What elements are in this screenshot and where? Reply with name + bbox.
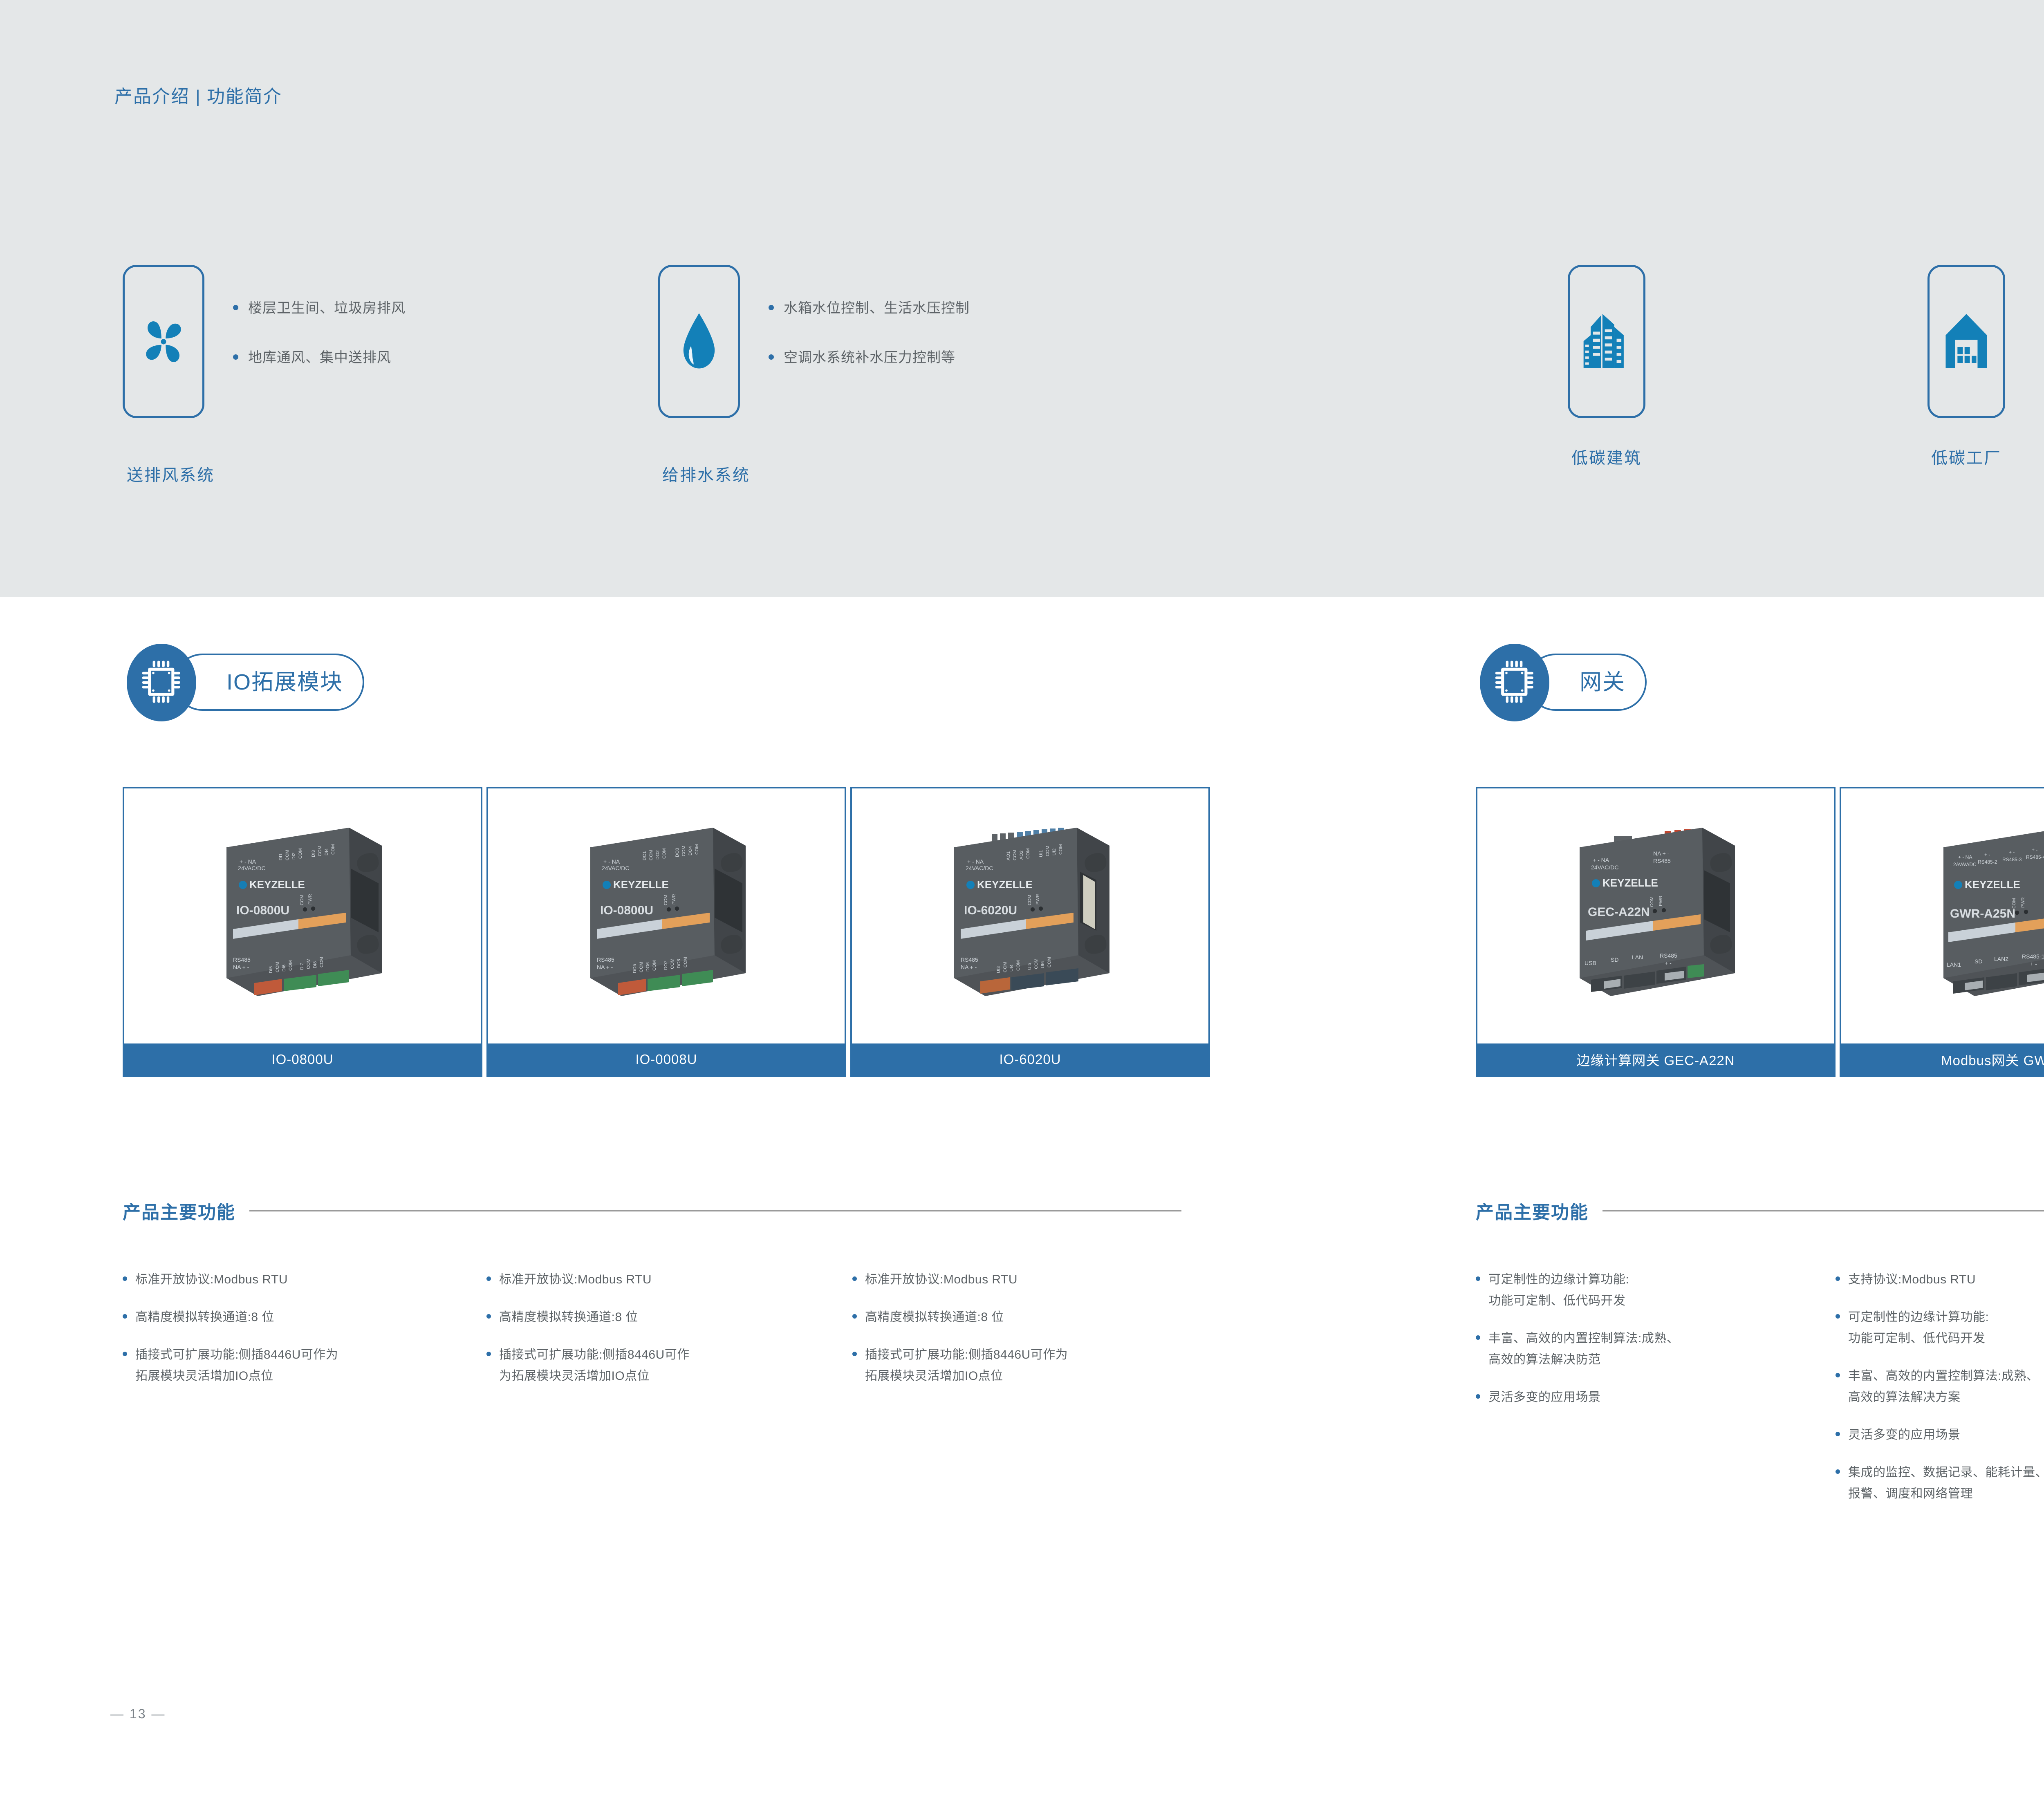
device-illustration: IO-0800U + - NA 24VAC/DC DI1 COM DI2 COM… — [176, 810, 429, 1022]
feature-item: 插接式可扩展功能:侧插8446U可作为 拓展模块灵活增加IO点位 — [852, 1344, 1196, 1387]
device-illustration: GWR-A25N + - NA + - + - + - + - 2AVAV/DC… — [1893, 810, 2044, 1022]
bullet-item: 楼层卫生间、垃圾房排风 — [233, 297, 406, 317]
feature-text: 高精度模拟转换通道:8 位 — [499, 1307, 638, 1328]
product-caption: IO-0008U — [488, 1043, 845, 1075]
feature-item: 丰富、高效的内置控制算法:成熟、 高效的算法解决方案 — [1836, 1366, 2044, 1408]
feature-item: 高精度模拟转换通道:8 位 — [852, 1307, 1196, 1328]
bullet-dot — [1836, 1276, 1840, 1281]
svg-text:COM: COM — [300, 895, 305, 905]
section-header-io-modules: IO拓展模块 — [127, 644, 437, 721]
bullet-dot — [233, 354, 238, 360]
water-drop-icon — [675, 311, 724, 372]
svg-text:LAN2: LAN2 — [1994, 956, 2008, 962]
feature-item: 标准开放协议:Modbus RTU — [852, 1269, 1196, 1290]
page-header-left: 产品介绍 | 功能简介 — [114, 82, 282, 108]
svg-text:+ -: + - — [1665, 960, 1672, 966]
product-card[interactable]: GWR-A25N + - NA + - + - + - + - 2AVAV/DC… — [1840, 787, 2044, 1077]
svg-text:PWR: PWR — [672, 894, 677, 905]
scenario-low-carbon-factory: 低碳工厂 — [1927, 265, 2005, 418]
svg-text:COM: COM — [662, 848, 667, 859]
svg-text:COM: COM — [1047, 957, 1052, 967]
feature-item: 丰富、高效的内置控制算法:成熟、 高效的算法解决防范 — [1476, 1328, 1811, 1370]
feature-text: 高精度模拟转换通道:8 位 — [865, 1307, 1004, 1328]
scenario-water: 水箱水位控制、生活水压控制 空调水系统补水压力控制等 — [658, 265, 970, 418]
scenario-low-carbon-factory-label: 低碳工厂 — [1927, 445, 2005, 468]
svg-text:24VAC/DC: 24VAC/DC — [602, 865, 629, 871]
svg-text:IO-0800U: IO-0800U — [600, 904, 653, 917]
feature-text: 标准开放协议:Modbus RTU — [135, 1269, 288, 1290]
bullet-dot — [233, 305, 238, 310]
svg-text:COM: COM — [695, 844, 699, 855]
feature-item: 灵活多变的应用场景 — [1836, 1424, 2044, 1446]
svg-text:RS485: RS485 — [1660, 952, 1677, 959]
svg-text:LAN1: LAN1 — [1947, 961, 1961, 968]
feature-item: 灵活多变的应用场景 — [1476, 1387, 1811, 1408]
svg-text:COM: COM — [285, 850, 290, 860]
svg-text:DO8: DO8 — [677, 959, 681, 968]
office-buildings-icon — [1580, 309, 1633, 374]
water-drop-icon-frame — [658, 265, 740, 418]
feature-text: 丰富、高效的内置控制算法:成熟、 高效的算法解决方案 — [1848, 1366, 2039, 1408]
svg-text:RS485-4: RS485-4 — [2026, 854, 2044, 860]
features-heading-right: 产品主要功能 — [1476, 1198, 2044, 1224]
svg-text:UI6: UI6 — [1040, 961, 1045, 968]
svg-text:LAN: LAN — [1632, 954, 1643, 961]
feature-text: 可定制性的边缘计算功能: 功能可定制、低代码开发 — [1848, 1307, 1989, 1349]
product-photo-io-0008u: IO-0800U + - NA 24VAC/DC DO1 COM DO2 COM… — [488, 788, 845, 1043]
office-buildings-icon-frame — [1568, 265, 1645, 418]
svg-text:+ - NA: + - NA — [240, 858, 256, 865]
svg-text:UI3: UI3 — [996, 966, 1001, 973]
svg-text:COM: COM — [681, 846, 686, 856]
svg-text:NA + -: NA + - — [961, 964, 977, 970]
svg-text:RS485-1: RS485-1 — [2022, 953, 2044, 960]
bullet-dot — [486, 1314, 491, 1319]
bullet-dot — [852, 1352, 857, 1356]
svg-text:DI6: DI6 — [282, 965, 287, 972]
feature-text: 标准开放协议:Modbus RTU — [499, 1269, 652, 1290]
svg-text:KEYZELLE: KEYZELLE — [613, 878, 669, 891]
svg-text:DO1: DO1 — [642, 851, 647, 860]
feature-text: 高精度模拟转换通道:8 位 — [135, 1307, 274, 1328]
product-card[interactable]: IO-0800U + - NA 24VAC/DC DI1 COM DI2 COM… — [123, 787, 482, 1077]
svg-text:+ -: + - — [1984, 852, 1990, 858]
bullet-text: 空调水系统补水压力控制等 — [784, 346, 955, 366]
feature-text: 丰富、高效的内置控制算法:成熟、 高效的算法解决防范 — [1488, 1328, 1679, 1370]
factory-icon-frame — [1927, 265, 2005, 418]
svg-text:COM: COM — [652, 960, 657, 971]
svg-text:SD: SD — [1611, 956, 1618, 963]
feature-column-io-6020u: 标准开放协议:Modbus RTU 高精度模拟转换通道:8 位 插接式可扩展功能… — [852, 1269, 1196, 1403]
svg-text:USB: USB — [1585, 960, 1596, 966]
svg-text:24VAC/DC: 24VAC/DC — [238, 865, 265, 871]
svg-text:DO2: DO2 — [655, 850, 660, 860]
bullet-item: 空调水系统补水压力控制等 — [769, 346, 970, 366]
svg-text:IO-6020U: IO-6020U — [964, 904, 1017, 917]
product-caption: IO-6020U — [852, 1043, 1208, 1075]
svg-text:DI8: DI8 — [313, 961, 318, 968]
feature-column-gwr-a25n: 支持协议:Modbus RTU 可定制性的边缘计算功能: 功能可定制、低代码开发… — [1836, 1269, 2044, 1521]
svg-text:PWR: PWR — [2021, 897, 2026, 908]
bullet-dot — [486, 1276, 491, 1281]
bullet-dot — [123, 1352, 127, 1356]
scenario-low-carbon-building-label: 低碳建筑 — [1568, 445, 1645, 468]
feature-item: 支持协议:Modbus RTU — [1836, 1269, 2044, 1290]
bullet-dot — [1836, 1432, 1840, 1436]
scenario-water-label: 给排水系统 — [662, 462, 750, 486]
svg-text:KEYZELLE: KEYZELLE — [1602, 877, 1658, 889]
svg-text:COM: COM — [275, 962, 280, 972]
svg-text:+ - NA: + - NA — [1958, 854, 1972, 860]
svg-text:RS485-3: RS485-3 — [2002, 857, 2022, 862]
svg-text:COM: COM — [331, 844, 336, 855]
svg-text:DO7: DO7 — [663, 961, 668, 970]
feature-item: 高精度模拟转换通道:8 位 — [486, 1307, 826, 1328]
svg-text:DO5: DO5 — [632, 964, 637, 973]
svg-text:COM: COM — [1034, 958, 1039, 969]
svg-text:RS485: RS485 — [233, 956, 251, 963]
feature-column-io-0800u: 标准开放协议:Modbus RTU 高精度模拟转换通道:8 位 插接式可扩展功能… — [123, 1269, 462, 1403]
scenario-ventilation: 楼层卫生间、垃圾房排风 地库通风、集中送排风 — [123, 265, 406, 418]
feature-item: 标准开放协议:Modbus RTU — [486, 1269, 826, 1290]
svg-text:PWR: PWR — [308, 894, 313, 905]
svg-text:COM: COM — [298, 848, 303, 859]
svg-text:NA + -: NA + - — [597, 964, 613, 970]
bullet-dot — [1836, 1469, 1840, 1474]
svg-text:RS485: RS485 — [1653, 858, 1671, 864]
svg-text:COM: COM — [1003, 962, 1008, 972]
svg-text:+ -: + - — [2032, 847, 2037, 853]
svg-text:COM: COM — [639, 962, 644, 972]
svg-text:COM: COM — [649, 850, 654, 860]
section-title-gateway: 网关 — [1580, 671, 1625, 693]
svg-text:COM: COM — [319, 957, 324, 967]
feature-item: 集成的监控、数据记录、能耗计量、 报警、调度和网络管理 — [1836, 1462, 2044, 1505]
factory-icon — [1940, 309, 1993, 374]
fan-icon-frame — [123, 265, 204, 418]
feature-item: 标准开放协议:Modbus RTU — [123, 1269, 462, 1290]
bullet-item: 水箱水位控制、生活水压控制 — [769, 297, 970, 317]
bullet-dot — [486, 1352, 491, 1356]
features-title: 产品主要功能 — [1476, 1198, 1589, 1224]
product-caption: IO-0800U — [124, 1043, 481, 1075]
product-caption: 边缘计算网关 GEC-A22N — [1477, 1043, 1834, 1075]
svg-text:RS485: RS485 — [597, 956, 614, 963]
scenario-ventilation-label: 送排风系统 — [127, 462, 215, 486]
svg-text:COM: COM — [1045, 846, 1050, 856]
features-rule — [1602, 1210, 2044, 1211]
svg-text:COM: COM — [683, 957, 688, 967]
svg-text:AO2: AO2 — [1019, 851, 1024, 860]
bullet-text: 地库通风、集中送排风 — [248, 346, 391, 366]
feature-text: 灵活多变的应用场景 — [1848, 1424, 1961, 1446]
scenario-low-carbon-building: 低碳建筑 — [1568, 265, 1645, 418]
svg-text:RS485-2: RS485-2 — [1978, 859, 1997, 865]
feature-text: 插接式可扩展功能:侧插8446U可作为 拓展模块灵活增加IO点位 — [865, 1344, 1068, 1387]
svg-text:PWR: PWR — [1035, 894, 1040, 905]
bullet-dot — [1836, 1314, 1840, 1319]
svg-text:COM: COM — [1650, 896, 1654, 907]
svg-text:+ - NA: + - NA — [1593, 857, 1609, 863]
device-illustration: GEC-A22N + - NA 24VAC/DC NA + - RS485 CO… — [1529, 810, 1782, 1022]
product-photo-io-0800u: IO-0800U + - NA 24VAC/DC DI1 COM DI2 COM… — [124, 788, 481, 1043]
section-title-io: IO拓展模块 — [226, 671, 343, 693]
svg-text:COM: COM — [1027, 895, 1032, 905]
chip-icon-badge — [1480, 644, 1549, 721]
svg-text:PWR: PWR — [1659, 896, 1663, 906]
features-rule — [249, 1210, 1181, 1211]
svg-text:DI3: DI3 — [311, 850, 316, 857]
product-card[interactable]: IO-6020U + - NA 24VAC/DC AO1 COM AO2 COM… — [850, 787, 1210, 1077]
feature-item: 可定制性的边缘计算功能: 功能可定制、低代码开发 — [1476, 1269, 1811, 1312]
svg-text:GEC-A22N: GEC-A22N — [1588, 905, 1650, 919]
product-card[interactable]: IO-0800U + - NA 24VAC/DC DO1 COM DO2 COM… — [486, 787, 846, 1077]
feature-item: 插接式可扩展功能:侧插8446U可作 为拓展模块灵活增加IO点位 — [486, 1344, 826, 1387]
feature-text: 插接式可扩展功能:侧插8446U可作为 拓展模块灵活增加IO点位 — [135, 1344, 338, 1387]
svg-text:24VAC/DC: 24VAC/DC — [966, 865, 993, 871]
bullet-dot — [852, 1276, 857, 1281]
bullet-text: 楼层卫生间、垃圾房排风 — [248, 297, 406, 317]
svg-text:RS485: RS485 — [961, 956, 978, 963]
svg-text:COM: COM — [306, 958, 311, 969]
svg-text:+ - NA: + - NA — [603, 858, 620, 865]
svg-text:IO-0800U: IO-0800U — [236, 904, 289, 917]
svg-text:COM: COM — [288, 960, 293, 971]
svg-text:KEYZELLE: KEYZELLE — [1965, 878, 2020, 891]
feature-text: 插接式可扩展功能:侧插8446U可作 为拓展模块灵活增加IO点位 — [499, 1344, 690, 1387]
svg-text:NA + -: NA + - — [233, 964, 249, 970]
bullet-dot — [769, 354, 774, 360]
svg-text:DO3: DO3 — [675, 848, 680, 857]
svg-text:+ -: + - — [2030, 961, 2037, 967]
feature-column-gec-a22n: 可定制性的边缘计算功能: 功能可定制、低代码开发 丰富、高效的内置控制算法:成熟… — [1476, 1269, 1811, 1424]
svg-text:DI7: DI7 — [300, 963, 305, 970]
bullet-dot — [1476, 1276, 1480, 1281]
feature-text: 集成的监控、数据记录、能耗计量、 报警、调度和网络管理 — [1848, 1462, 2044, 1505]
svg-text:UI1: UI1 — [1039, 850, 1044, 857]
scenario-ventilation-bullets: 楼层卫生间、垃圾房排风 地库通风、集中送排风 — [233, 265, 406, 366]
section-title-pill-io: IO拓展模块 — [174, 654, 364, 711]
bullet-dot — [123, 1276, 127, 1281]
svg-text:COM: COM — [1016, 960, 1021, 971]
svg-text:DO6: DO6 — [645, 962, 650, 972]
svg-text:UI2: UI2 — [1052, 849, 1057, 855]
svg-text:COM: COM — [1058, 844, 1063, 855]
product-card[interactable]: GEC-A22N + - NA 24VAC/DC NA + - RS485 CO… — [1476, 787, 1836, 1077]
bullet-dot — [1476, 1335, 1480, 1340]
feature-text: 灵活多变的应用场景 — [1488, 1387, 1601, 1408]
scenario-water-bullets: 水箱水位控制、生活水压控制 空调水系统补水压力控制等 — [769, 265, 970, 366]
product-photo-gec-a22n: GEC-A22N + - NA 24VAC/DC NA + - RS485 CO… — [1477, 788, 1834, 1043]
svg-text:GWR-A25N: GWR-A25N — [1950, 907, 2015, 920]
svg-text:DI4: DI4 — [324, 849, 329, 855]
svg-text:COM: COM — [2012, 898, 2017, 909]
bullet-item: 地库通风、集中送排风 — [233, 346, 406, 366]
bullet-dot — [123, 1314, 127, 1319]
device-illustration: IO-6020U + - NA 24VAC/DC AO1 COM AO2 COM… — [903, 810, 1157, 1022]
feature-text: 标准开放协议:Modbus RTU — [865, 1269, 1018, 1290]
svg-text:DO4: DO4 — [688, 846, 693, 855]
feature-text: 支持协议:Modbus RTU — [1848, 1269, 1976, 1290]
bullet-dot — [1476, 1394, 1480, 1399]
svg-text:COM: COM — [663, 895, 668, 905]
svg-text:24VAC/DC: 24VAC/DC — [1591, 864, 1618, 871]
device-illustration: IO-0800U + - NA 24VAC/DC DO1 COM DO2 COM… — [540, 810, 793, 1022]
svg-text:SD: SD — [1975, 958, 1982, 965]
svg-text:DI1: DI1 — [278, 853, 283, 860]
feature-column-io-0008u: 标准开放协议:Modbus RTU 高精度模拟转换通道:8 位 插接式可扩展功能… — [486, 1269, 826, 1403]
section-header-gateway: 网关 — [1480, 644, 1717, 721]
svg-text:COM: COM — [1026, 848, 1031, 859]
svg-text:NA + -: NA + - — [1653, 850, 1670, 857]
page-number-left: — 13 — — [110, 1706, 166, 1722]
svg-text:AO1: AO1 — [1006, 851, 1011, 860]
svg-text:COM: COM — [1013, 850, 1018, 860]
feature-item: 高精度模拟转换通道:8 位 — [123, 1307, 462, 1328]
bullet-text: 水箱水位控制、生活水压控制 — [784, 297, 970, 317]
svg-text:+ - NA: + - NA — [967, 858, 984, 865]
product-photo-gwr-a25n: GWR-A25N + - NA + - + - + - + - 2AVAV/DC… — [1841, 788, 2044, 1043]
svg-text:UI5: UI5 — [1027, 963, 1032, 970]
svg-text:2AVAV/DC: 2AVAV/DC — [1953, 862, 1977, 867]
feature-item: 可定制性的边缘计算功能: 功能可定制、低代码开发 — [1836, 1307, 2044, 1349]
features-heading-left: 产品主要功能 — [123, 1198, 1210, 1224]
product-photo-io-6020u: IO-6020U + - NA 24VAC/DC AO1 COM AO2 COM… — [852, 788, 1208, 1043]
chip-icon-badge — [127, 644, 196, 721]
feature-item: 插接式可扩展功能:侧插8446U可作为 拓展模块灵活增加IO点位 — [123, 1344, 462, 1387]
svg-text:KEYZELLE: KEYZELLE — [249, 878, 305, 891]
svg-text:DI2: DI2 — [291, 853, 296, 860]
chip-icon — [1494, 659, 1535, 707]
bullet-dot — [852, 1314, 857, 1319]
feature-text: 可定制性的边缘计算功能: 功能可定制、低代码开发 — [1488, 1269, 1629, 1312]
svg-text:DI5: DI5 — [269, 966, 273, 973]
bullet-dot — [1836, 1373, 1840, 1377]
svg-text:COM: COM — [670, 958, 675, 969]
svg-text:KEYZELLE: KEYZELLE — [977, 878, 1033, 891]
fan-icon — [137, 315, 190, 368]
bullet-dot — [769, 305, 774, 310]
svg-text:UI4: UI4 — [1009, 965, 1014, 972]
svg-text:+ -: + - — [2009, 849, 2015, 855]
svg-text:COM: COM — [318, 846, 323, 856]
product-caption: Modbus网关 GWR-A25N — [1841, 1043, 2044, 1075]
chip-icon — [141, 659, 182, 707]
features-title: 产品主要功能 — [123, 1198, 235, 1224]
